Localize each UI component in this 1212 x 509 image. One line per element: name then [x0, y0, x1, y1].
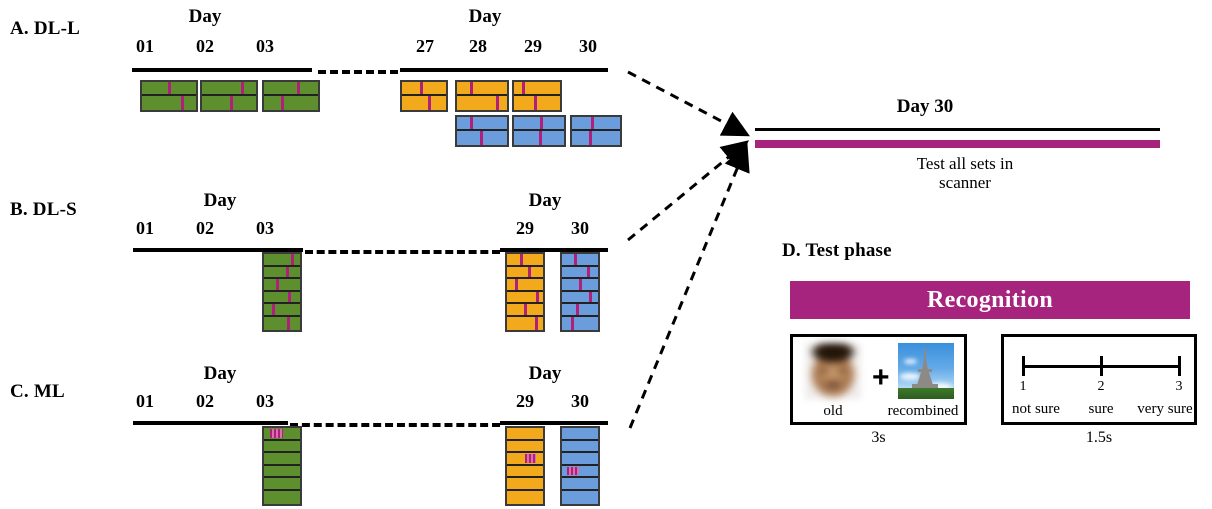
stimulus-box[interactable]: + old recombined — [790, 334, 967, 425]
test-timeline-rule — [755, 128, 1160, 131]
panel-d-label: D. Test phase — [782, 240, 892, 262]
test-timeline-bar — [755, 140, 1160, 148]
plus-operator: + — [872, 363, 890, 393]
arrow-panel-a-to-test — [628, 72, 742, 132]
rating-caption-very-sure: very sure — [1128, 401, 1202, 418]
stimulus-left-label: old — [799, 403, 867, 420]
rating-number-2: 2 — [1090, 379, 1112, 395]
arrow-panel-c-to-test — [630, 152, 744, 428]
stimulus-right-label: recombined — [880, 403, 966, 420]
rating-tick-1 — [1022, 356, 1025, 376]
recognition-header: Recognition — [790, 281, 1190, 319]
rating-number-3: 3 — [1168, 379, 1190, 395]
figure-canvas: A. DL-L Day Day 01 02 03 27 28 29 30 — [0, 0, 1212, 509]
rating-caption-not-sure: not sure — [1002, 401, 1070, 418]
rating-duration: 1.5s — [1001, 429, 1197, 447]
test-timeline-caption-line2: scanner — [855, 173, 1075, 193]
test-timeline-caption-line1: Test all sets in — [855, 154, 1075, 174]
rating-box[interactable]: 1 2 3 not sure sure very sure — [1001, 334, 1197, 425]
rating-caption-sure: sure — [1074, 401, 1128, 418]
eiffel-tower-photo — [898, 343, 954, 399]
blurred-face-photo — [805, 343, 861, 399]
test-timeline-title: Day 30 — [855, 96, 995, 118]
arrow-panel-b-to-test — [628, 146, 742, 240]
stimulus-duration: 3s — [790, 429, 967, 447]
rating-number-1: 1 — [1012, 379, 1034, 395]
rating-tick-2 — [1100, 356, 1103, 376]
rating-tick-3 — [1178, 356, 1181, 376]
